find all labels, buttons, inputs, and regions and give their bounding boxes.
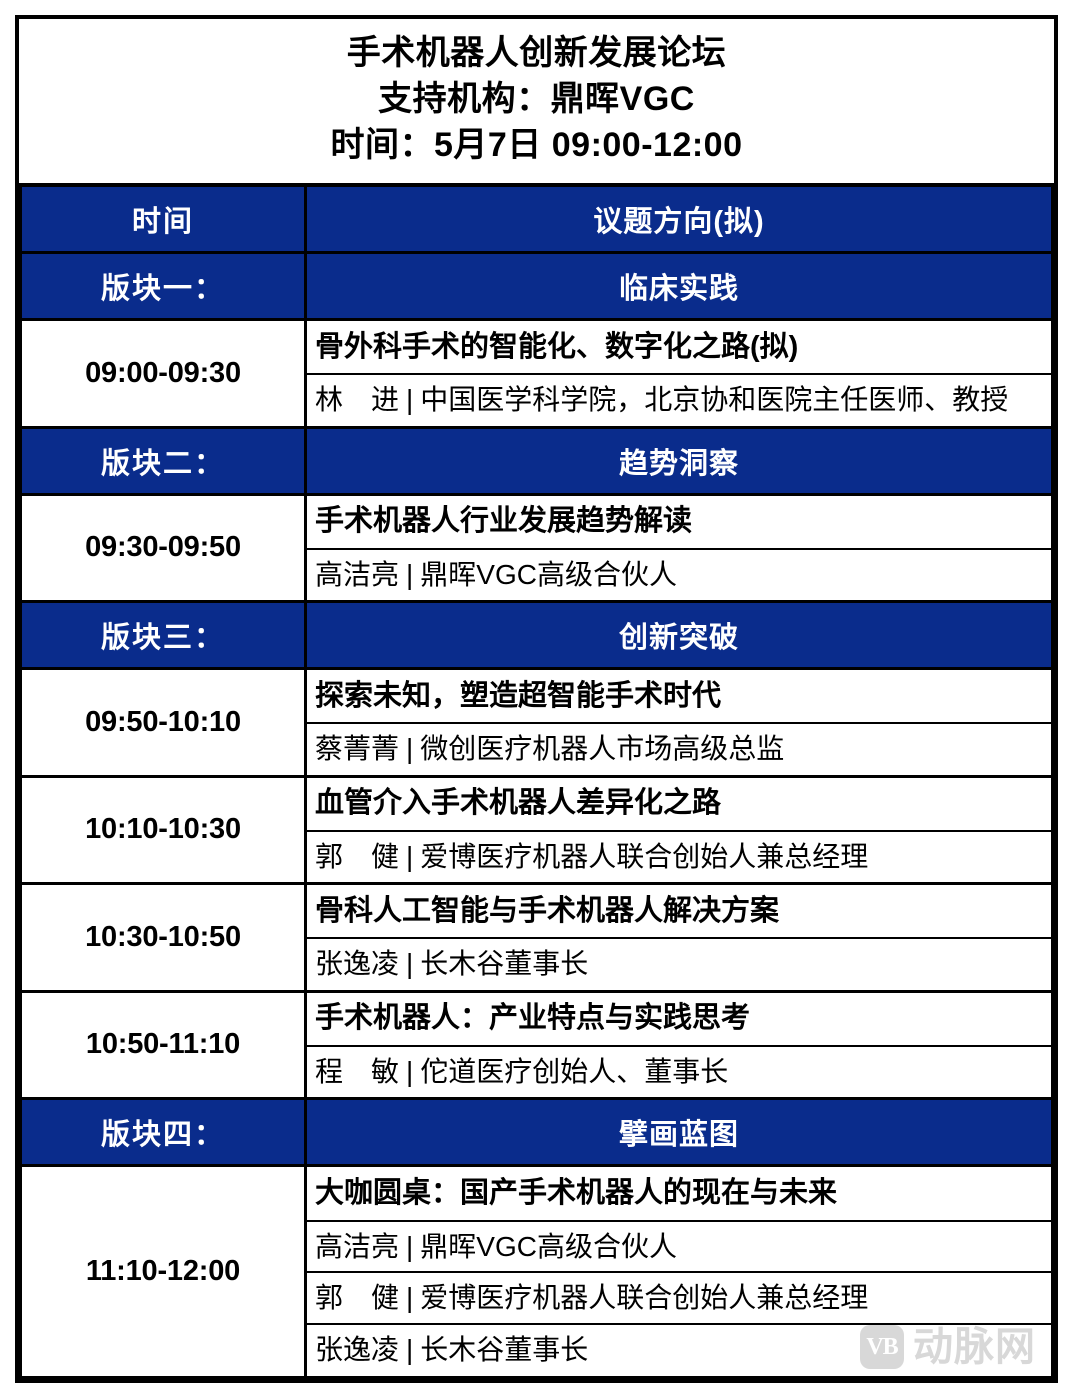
session-time: 09:50-10:10 xyxy=(21,669,306,776)
session-time: 09:00-09:30 xyxy=(21,320,306,427)
section-band-row: 版块一：临床实践 xyxy=(21,253,1053,320)
session-time: 10:10-10:30 xyxy=(21,776,306,883)
session-topic-inner: 骨外科手术的智能化、数字化之路(拟)林 进|中国医学科学院，北京协和医院主任医师… xyxy=(307,322,1051,425)
speaker-name: 郭 健 xyxy=(315,841,399,872)
session-topic-cell: 骨科人工智能与手术机器人解决方案张逸凌|长木谷董事长 xyxy=(306,884,1053,991)
session-topic-inner: 手术机器人：产业特点与实践思考程 敏|佗道医疗创始人、董事长 xyxy=(307,993,1051,1096)
section-title-3: 创新突破 xyxy=(306,602,1053,669)
speaker-separator: | xyxy=(399,944,420,984)
speaker-name: 张逸凌 xyxy=(315,1334,399,1365)
session-row: 10:50-11:10手术机器人：产业特点与实践思考程 敏|佗道医疗创始人、董事… xyxy=(21,991,1053,1098)
session-speaker-line: 郭 健|爱博医疗机器人联合创始人兼总经理 xyxy=(307,1273,1051,1325)
agenda-table-body: 手术机器人创新发展论坛支持机构：鼎晖VGC时间：5月7日 09:00-12:00… xyxy=(21,19,1053,1378)
session-row: 09:50-10:10探索未知，塑造超智能手术时代蔡菁菁|微创医疗机器人市场高级… xyxy=(21,669,1053,776)
session-time: 10:30-10:50 xyxy=(21,884,306,991)
column-header-row: 时间议题方向(拟) xyxy=(21,185,1053,253)
forum-title-line-3: 时间：5月7日 09:00-12:00 xyxy=(27,122,1047,168)
session-speaker-line: 林 进|中国医学科学院，北京协和医院主任医师、教授 xyxy=(307,375,1051,425)
session-time: 11:10-12:00 xyxy=(21,1166,306,1378)
session-speaker-line: 程 敏|佗道医疗创始人、董事长 xyxy=(307,1047,1051,1097)
session-topic-inner: 血管介入手术机器人差异化之路郭 健|爱博医疗机器人联合创始人兼总经理 xyxy=(307,778,1051,881)
session-speaker-line: 张逸凌|长木谷董事长 xyxy=(307,939,1051,989)
speaker-name: 高洁亮 xyxy=(315,559,399,590)
session-time: 09:30-09:50 xyxy=(21,494,306,601)
forum-title-block: 手术机器人创新发展论坛支持机构：鼎晖VGC时间：5月7日 09:00-12:00 xyxy=(21,19,1053,185)
title-row: 手术机器人创新发展论坛支持机构：鼎晖VGC时间：5月7日 09:00-12:00 xyxy=(21,19,1053,185)
session-row: 09:00-09:30骨外科手术的智能化、数字化之路(拟)林 进|中国医学科学院… xyxy=(21,320,1053,427)
session-topic-title: 骨科人工智能与手术机器人解决方案 xyxy=(307,886,1051,940)
speaker-separator: | xyxy=(399,1227,420,1267)
forum-title-line-2: 支持机构：鼎晖VGC xyxy=(27,76,1047,122)
speaker-separator: | xyxy=(399,837,420,877)
session-time: 10:50-11:10 xyxy=(21,991,306,1098)
session-speaker-line: 张逸凌|长木谷董事长 xyxy=(307,1325,1051,1375)
speaker-name: 高洁亮 xyxy=(315,1231,399,1262)
section-band-row: 版块四：擘画蓝图 xyxy=(21,1099,1053,1166)
speaker-affiliation: 爱博医疗机器人联合创始人兼总经理 xyxy=(420,841,868,872)
session-speaker-line: 郭 健|爱博医疗机器人联合创始人兼总经理 xyxy=(307,832,1051,882)
speaker-affiliation: 鼎晖VGC高级合伙人 xyxy=(420,559,677,590)
speaker-separator: | xyxy=(399,380,420,420)
speaker-name: 程 敏 xyxy=(315,1056,399,1087)
session-row: 11:10-12:00大咖圆桌：国产手术机器人的现在与未来高洁亮|鼎晖VGC高级… xyxy=(21,1166,1053,1378)
session-row: 10:30-10:50骨科人工智能与手术机器人解决方案张逸凌|长木谷董事长 xyxy=(21,884,1053,991)
speaker-name: 蔡菁菁 xyxy=(315,733,399,764)
speaker-affiliation: 长木谷董事长 xyxy=(420,1334,588,1365)
section-label-4: 版块四： xyxy=(21,1099,306,1166)
session-topic-cell: 骨外科手术的智能化、数字化之路(拟)林 进|中国医学科学院，北京协和医院主任医师… xyxy=(306,320,1053,427)
speaker-name: 林 进 xyxy=(315,384,399,415)
speaker-affiliation: 佗道医疗创始人、董事长 xyxy=(420,1056,728,1087)
speaker-separator: | xyxy=(399,729,420,769)
session-speaker-line: 高洁亮|鼎晖VGC高级合伙人 xyxy=(307,1222,1051,1274)
speaker-separator: | xyxy=(399,1330,420,1370)
session-topic-cell: 手术机器人行业发展趋势解读高洁亮|鼎晖VGC高级合伙人 xyxy=(306,494,1053,601)
session-topic-inner: 手术机器人行业发展趋势解读高洁亮|鼎晖VGC高级合伙人 xyxy=(307,496,1051,599)
session-topic-cell: 血管介入手术机器人差异化之路郭 健|爱博医疗机器人联合创始人兼总经理 xyxy=(306,776,1053,883)
speaker-separator: | xyxy=(399,1278,420,1318)
speaker-separator: | xyxy=(399,555,420,595)
speaker-affiliation: 爱博医疗机器人联合创始人兼总经理 xyxy=(420,1282,868,1313)
session-row: 10:10-10:30血管介入手术机器人差异化之路郭 健|爱博医疗机器人联合创始… xyxy=(21,776,1053,883)
session-topic-title: 手术机器人：产业特点与实践思考 xyxy=(307,993,1051,1047)
section-band-row: 版块三：创新突破 xyxy=(21,602,1053,669)
speaker-affiliation: 微创医疗机器人市场高级总监 xyxy=(420,733,784,764)
session-topic-inner: 大咖圆桌：国产手术机器人的现在与未来高洁亮|鼎晖VGC高级合伙人郭 健|爱博医疗… xyxy=(307,1168,1051,1375)
session-topic-title: 血管介入手术机器人差异化之路 xyxy=(307,778,1051,832)
speaker-affiliation: 中国医学科学院，北京协和医院主任医师、教授 xyxy=(420,384,1008,415)
agenda-table: 手术机器人创新发展论坛支持机构：鼎晖VGC时间：5月7日 09:00-12:00… xyxy=(19,19,1054,1379)
session-topic-inner: 探索未知，塑造超智能手术时代蔡菁菁|微创医疗机器人市场高级总监 xyxy=(307,671,1051,774)
speaker-name: 郭 健 xyxy=(315,1282,399,1313)
session-topic-cell: 大咖圆桌：国产手术机器人的现在与未来高洁亮|鼎晖VGC高级合伙人郭 健|爱博医疗… xyxy=(306,1166,1053,1378)
section-title-4: 擘画蓝图 xyxy=(306,1099,1053,1166)
section-title-1: 临床实践 xyxy=(306,253,1053,320)
section-label-1: 版块一： xyxy=(21,253,306,320)
section-label-3: 版块三： xyxy=(21,602,306,669)
section-label-2: 版块二： xyxy=(21,427,306,494)
session-topic-title: 探索未知，塑造超智能手术时代 xyxy=(307,671,1051,725)
speaker-name: 张逸凌 xyxy=(315,948,399,979)
session-topic-cell: 手术机器人：产业特点与实践思考程 敏|佗道医疗创始人、董事长 xyxy=(306,991,1053,1098)
session-speaker-line: 蔡菁菁|微创医疗机器人市场高级总监 xyxy=(307,724,1051,774)
session-topic-title: 大咖圆桌：国产手术机器人的现在与未来 xyxy=(307,1168,1051,1222)
section-band-row: 版块二：趋势洞察 xyxy=(21,427,1053,494)
session-speaker-line: 高洁亮|鼎晖VGC高级合伙人 xyxy=(307,550,1051,600)
session-topic-inner: 骨科人工智能与手术机器人解决方案张逸凌|长木谷董事长 xyxy=(307,886,1051,989)
agenda-table-container: 手术机器人创新发展论坛支持机构：鼎晖VGC时间：5月7日 09:00-12:00… xyxy=(15,15,1058,1383)
speaker-affiliation: 长木谷董事长 xyxy=(420,948,588,979)
session-topic-cell: 探索未知，塑造超智能手术时代蔡菁菁|微创医疗机器人市场高级总监 xyxy=(306,669,1053,776)
column-header-topic: 议题方向(拟) xyxy=(306,185,1053,253)
speaker-affiliation: 鼎晖VGC高级合伙人 xyxy=(420,1231,677,1262)
forum-title-line-1: 手术机器人创新发展论坛 xyxy=(27,30,1047,76)
session-topic-title: 手术机器人行业发展趋势解读 xyxy=(307,496,1051,550)
session-topic-title: 骨外科手术的智能化、数字化之路(拟) xyxy=(307,322,1051,376)
column-header-time: 时间 xyxy=(21,185,306,253)
session-row: 09:30-09:50手术机器人行业发展趋势解读高洁亮|鼎晖VGC高级合伙人 xyxy=(21,494,1053,601)
section-title-2: 趋势洞察 xyxy=(306,427,1053,494)
speaker-separator: | xyxy=(399,1052,420,1092)
